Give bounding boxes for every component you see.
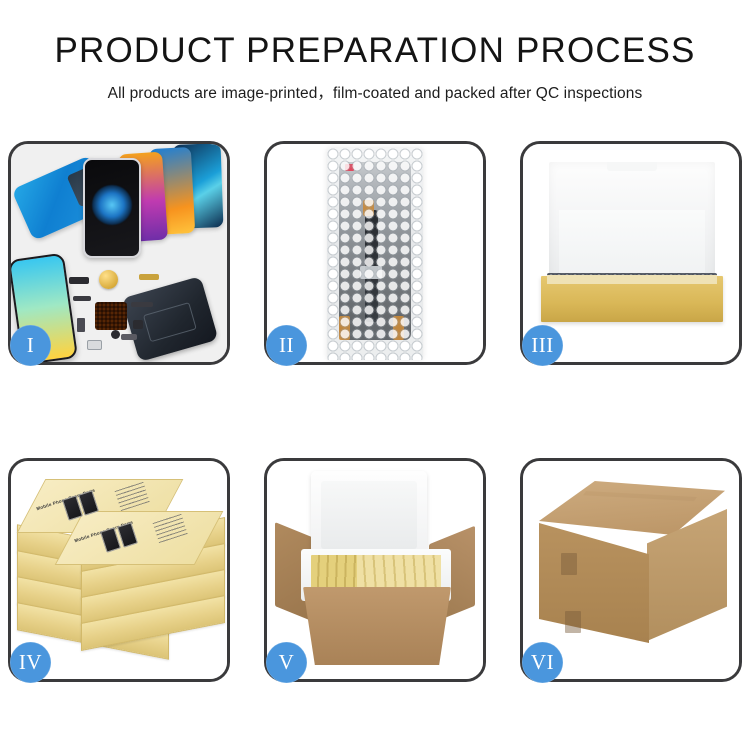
small-chip-icon — [87, 340, 102, 350]
foam-cooler-lid-image — [311, 471, 427, 557]
product-preparation-infographic: PRODUCT PREPARATION PROCESS All products… — [0, 0, 750, 750]
small-chip-icon — [69, 277, 89, 284]
packing-tape-icon — [561, 553, 577, 575]
flex-cable-icon — [139, 274, 159, 280]
process-step-panel-5[interactable]: V — [264, 458, 486, 682]
step-badge-4: IV — [10, 642, 51, 683]
page-title: PRODUCT PREPARATION PROCESS — [0, 0, 750, 70]
display-connector-icon — [360, 266, 382, 279]
white-foam-lining-image — [549, 162, 715, 290]
packing-tape-icon — [565, 611, 581, 633]
carton-front-face — [539, 523, 649, 643]
open-cardboard-carton-image — [303, 587, 451, 665]
small-chip-icon — [111, 330, 120, 339]
flex-cable-icon — [131, 302, 153, 307]
bubble-wrap-bag-image — [327, 148, 423, 360]
small-chip-icon — [77, 318, 85, 332]
step-badge-5: V — [266, 642, 307, 683]
step-badge-2: II — [266, 325, 307, 366]
copper-mesh-part-icon — [95, 302, 127, 330]
process-step-panel-4[interactable]: Mobile Phone Spare Parts Mobile Phone Sp… — [8, 458, 230, 682]
process-step-panel-1[interactable]: I — [8, 141, 230, 365]
tempered-glass-screen-image — [83, 158, 141, 258]
gold-coin-part-icon — [99, 270, 118, 289]
process-step-panel-6[interactable]: VI — [520, 458, 742, 682]
step-badge-6: VI — [522, 642, 563, 683]
flex-cable-icon — [73, 296, 91, 301]
gold-connector-tab-icon — [339, 316, 350, 340]
flex-cable-icon — [121, 334, 137, 340]
small-chip-icon — [133, 320, 143, 329]
yellow-kraft-box-image — [541, 276, 723, 322]
gold-connector-tab-icon — [363, 200, 374, 216]
stacked-yellow-boxes-image: Mobile Phone Spare Parts Mobile Phone Sp… — [17, 477, 227, 671]
gold-connector-tab-icon — [393, 316, 404, 340]
header: PRODUCT PREPARATION PROCESS All products… — [0, 0, 750, 103]
process-step-panel-2[interactable]: II — [264, 141, 486, 365]
step-badge-1: I — [10, 325, 51, 366]
red-pull-tab-icon — [345, 164, 354, 171]
step-badge-3: III — [522, 325, 563, 366]
process-step-grid: I II — [8, 141, 742, 682]
process-step-panel-3[interactable]: III — [520, 141, 742, 365]
page-subtitle: All products are image-printed，film-coat… — [0, 70, 750, 103]
phone-back-cover-image — [121, 276, 218, 362]
